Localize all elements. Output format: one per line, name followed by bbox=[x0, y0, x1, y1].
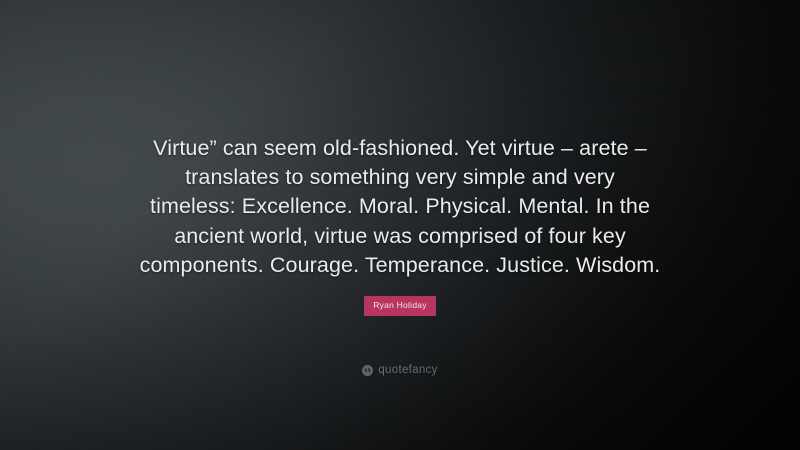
card-content: Virtue” can seem old-fashioned. Yet virt… bbox=[0, 0, 800, 450]
quote-line: components. Courage. Temperance. Justice… bbox=[70, 251, 730, 280]
quote-line: timeless: Excellence. Moral. Physical. M… bbox=[70, 192, 730, 221]
quotefancy-circle-logo-icon bbox=[362, 365, 373, 376]
quote-card: Virtue” can seem old-fashioned. Yet virt… bbox=[0, 0, 800, 450]
quote-text: Virtue” can seem old-fashioned. Yet virt… bbox=[0, 134, 800, 280]
author-badge-container: Ryan Holiday bbox=[0, 295, 800, 316]
quotefancy-watermark[interactable]: quotefancy bbox=[0, 365, 800, 377]
quote-line: Virtue” can seem old-fashioned. Yet virt… bbox=[70, 134, 730, 163]
quote-line: ancient world, virtue was comprised of f… bbox=[70, 222, 730, 251]
author-name-badge[interactable]: Ryan Holiday bbox=[364, 296, 436, 316]
quote-line: translates to something very simple and … bbox=[70, 163, 730, 192]
quotefancy-wordmark: quotefancy bbox=[378, 365, 437, 377]
